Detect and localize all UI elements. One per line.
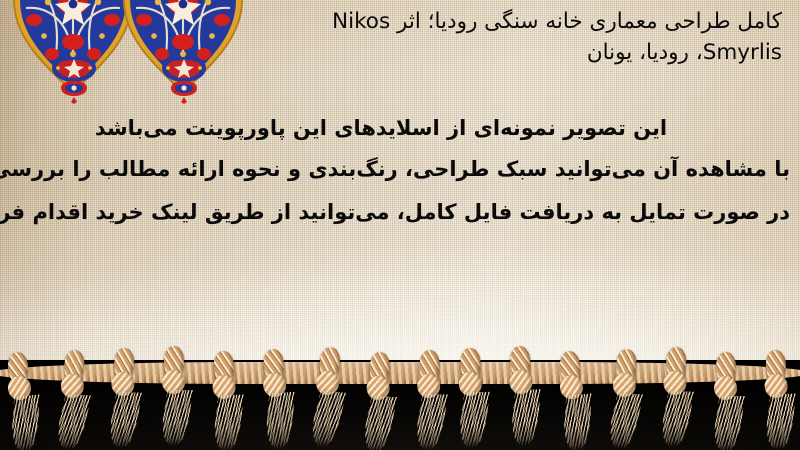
- tassel-strands: [264, 392, 295, 450]
- tassel-strands: [509, 389, 541, 447]
- tassel-strands: [10, 394, 40, 450]
- tassel-strands: [562, 393, 592, 450]
- carpet-tassel: [552, 346, 595, 450]
- tassel-strands: [658, 391, 695, 448]
- slide-body: این تصویر نمونه‌ای از اسلایدهای این پاور…: [8, 108, 790, 233]
- carpet-tassel: [157, 342, 191, 446]
- tassel-strands: [456, 392, 490, 449]
- carpet-tassel: [758, 345, 796, 450]
- slide-title-line-1: کامل طراحی معماری خانه سنگی رودیا؛ اثر N…: [222, 6, 782, 37]
- tassel-strands: [763, 393, 796, 450]
- carpet-tassel: [411, 346, 447, 450]
- carpet-tassel: [306, 342, 349, 449]
- carpet-tassel: [51, 345, 92, 450]
- carpet-tassel: [206, 346, 244, 450]
- carpet-tassel: [358, 347, 397, 450]
- slide-body-line-2: با مشاهده آن می‌توانید سبک طراحی، رنگ‌بن…: [8, 149, 790, 190]
- carpet-slide: کامل طراحی معماری خانه سنگی رودیا؛ اثر N…: [0, 0, 800, 450]
- tassel-strands: [53, 394, 92, 450]
- carpet-tassel: [255, 344, 296, 450]
- slide-body-line-1: این تصویر نمونه‌ای از اسلایدهای این پاور…: [8, 108, 790, 149]
- slide-text-layer: کامل طراحی معماری خانه سنگی رودیا؛ اثر N…: [0, 0, 800, 392]
- carpet-tassel: [603, 344, 644, 450]
- carpet-tassel: [104, 343, 142, 448]
- slide-body-line-3: در صورت تمایل به دریافت فایل کامل، می‌تو…: [8, 192, 790, 233]
- carpet-fringe: [0, 340, 800, 450]
- tassel-strands: [159, 390, 194, 446]
- tassel-strands: [106, 392, 143, 449]
- slide-title: کامل طراحی معماری خانه سنگی رودیا؛ اثر N…: [222, 6, 782, 68]
- tassel-strands: [307, 390, 347, 447]
- carpet-tassel: [0, 347, 42, 450]
- carpet-tassel: [709, 348, 743, 450]
- tassel-strands: [605, 393, 644, 450]
- carpet-tassel: [656, 342, 694, 447]
- tassel-strands: [413, 394, 449, 450]
- tassel-strands: [360, 396, 398, 450]
- tassel-strands: [711, 396, 746, 450]
- carpet-tassel: [453, 344, 489, 449]
- slide-title-line-2: Smyrlis، رودیا، یونان: [222, 37, 782, 68]
- tassel-strands: [211, 394, 244, 450]
- carpet-tassel: [502, 341, 541, 447]
